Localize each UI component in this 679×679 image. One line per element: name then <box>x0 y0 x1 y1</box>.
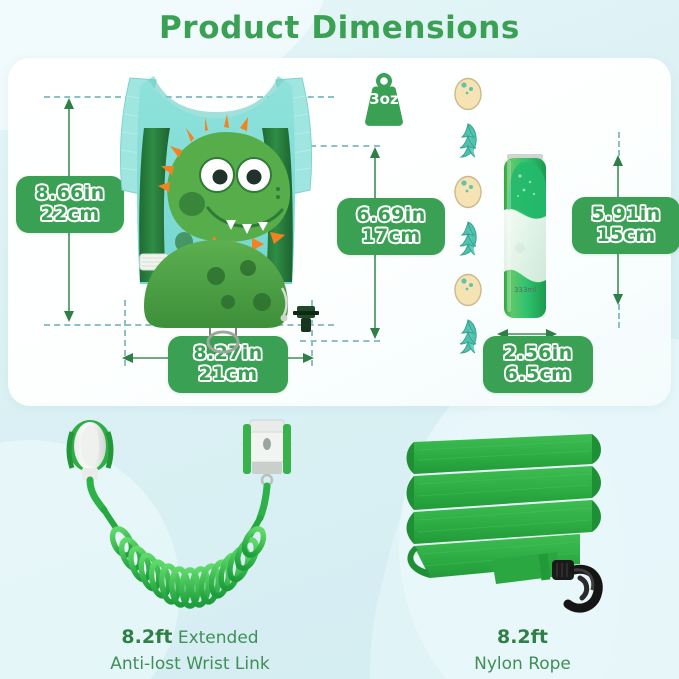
dimension-label-harness-body-height: 6.69in 17cm <box>337 198 445 255</box>
can-volume-label: 333ml <box>514 286 536 294</box>
dimension-label-can-width: 2.56in 6.5cm <box>483 336 593 393</box>
dimension-label-can-height: 5.91in 15cm <box>572 197 679 254</box>
reference-soda-can-image: 333ml <box>498 150 552 325</box>
guide-line-can-height-top <box>618 132 620 156</box>
nylon-rope-image <box>392 420 654 620</box>
nylon-rope-caption: 8.2ft Nylon Rope <box>390 624 655 676</box>
dimension-value-imperial: 6.69in <box>348 205 434 226</box>
dimension-value-metric: 21cm <box>179 364 277 385</box>
dimension-value-metric: 6.5cm <box>494 364 582 385</box>
dimension-value-metric: 15cm <box>583 225 669 246</box>
page-canvas: Product Dimensions 8.66in 22cm 6.69in 17… <box>0 0 679 679</box>
dino-backpack-harness-image <box>96 70 336 355</box>
weight-value: 3oz <box>356 90 412 108</box>
dino-egg-icon <box>445 72 491 112</box>
decor-icon-column <box>445 72 491 342</box>
dimension-value-imperial: 2.56in <box>494 343 582 364</box>
anti-lost-wrist-link-image <box>42 418 342 618</box>
guide-line-can-height-bottom <box>618 304 620 328</box>
wrist-link-name: Anti-lost Wrist Link <box>40 652 340 677</box>
wrist-link-qualifier: Extended <box>178 628 259 648</box>
dino-egg-icon <box>445 170 491 210</box>
weight-badge: 3oz <box>356 70 412 128</box>
nylon-rope-length: 8.2ft <box>497 626 548 648</box>
leaf-icon <box>445 120 491 160</box>
dino-egg-icon <box>445 268 491 308</box>
page-title: Product Dimensions <box>0 10 679 46</box>
dimension-value-metric: 17cm <box>348 226 434 247</box>
wrist-link-caption: 8.2ft Extended Anti-lost Wrist Link <box>40 624 340 676</box>
dimension-value-imperial: 5.91in <box>583 204 669 225</box>
wrist-link-length: 8.2ft <box>121 626 172 648</box>
leaf-icon <box>445 316 491 356</box>
nylon-rope-name: Nylon Rope <box>390 652 655 677</box>
leaf-icon <box>445 218 491 258</box>
